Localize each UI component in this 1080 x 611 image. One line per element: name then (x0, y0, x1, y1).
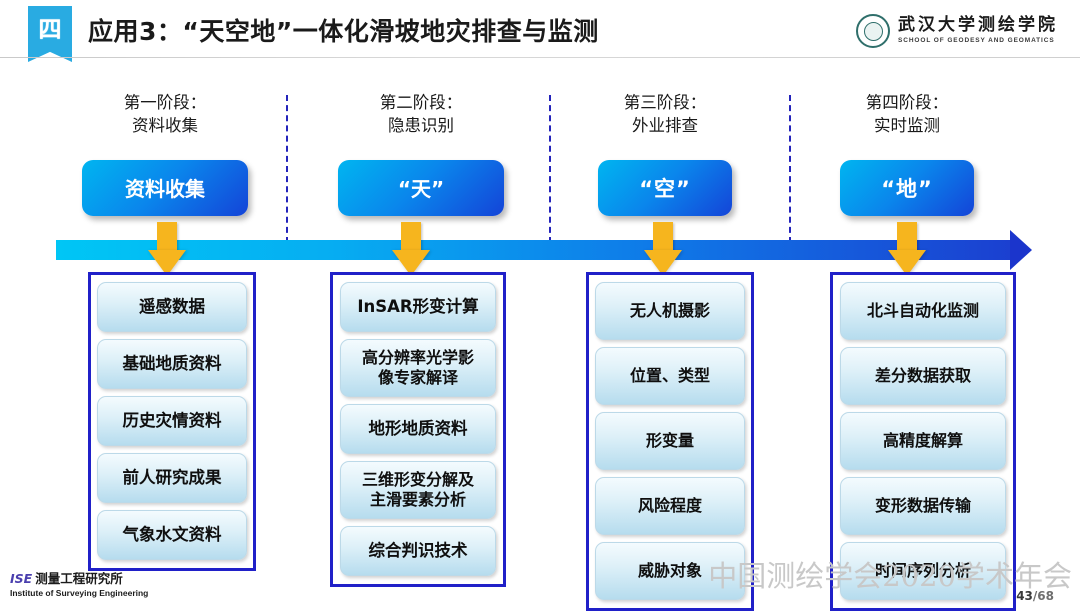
slide-header: 四 应用3：“天空地”一体化滑坡地灾排查与监测 武汉大学测绘学院 SCHOOL … (0, 0, 1080, 58)
arrow-shaft (157, 222, 177, 252)
stage-column-2: 第二阶段： 隐患识别 “天” (298, 92, 544, 216)
stage-items-frame-2: InSAR形变计算 高分辨率光学影 像专家解译 地形地质资料 三维形变分解及 主… (330, 272, 506, 587)
header-divider-rule (0, 57, 1080, 58)
down-arrow-icon-1 (148, 222, 186, 276)
list-item[interactable]: InSAR形变计算 (340, 282, 497, 332)
list-item[interactable]: 前人研究成果 (97, 453, 247, 503)
stage-divider-1 (286, 95, 288, 243)
down-arrow-icon-2 (392, 222, 430, 276)
arrow-shaft (653, 222, 673, 252)
list-item[interactable]: 三维形变分解及 主滑要素分析 (340, 461, 497, 519)
list-item[interactable]: 差分数据获取 (840, 347, 1005, 405)
university-logo-text: 武汉大学测绘学院 SCHOOL OF GEODESY AND GEOMATICS (898, 17, 1058, 45)
stage-title-3: 第三阶段： 外业排查 (542, 92, 788, 138)
timeline-arrowhead-icon (1010, 230, 1032, 270)
list-item[interactable]: 位置、类型 (595, 347, 745, 405)
stage-chip-3[interactable]: “空” (598, 160, 732, 216)
stage-chip-4[interactable]: “地” (840, 160, 974, 216)
institute-name-en: Institute of Surveying Engineering (10, 588, 148, 599)
stage-column-4: 第四阶段： 实时监测 “地” (784, 92, 1030, 216)
stage-title-4: 第四阶段： 实时监测 (784, 92, 1030, 138)
list-item[interactable]: 高分辨率光学影 像专家解译 (340, 339, 497, 397)
stage-chip-2[interactable]: “天” (338, 160, 504, 216)
ise-logo-text: ISE (10, 571, 32, 586)
list-item[interactable]: 遥感数据 (97, 282, 247, 332)
list-item[interactable]: 无人机摄影 (595, 282, 745, 340)
stage-column-1: 第一阶段： 资料收集 资料收集 (42, 92, 288, 216)
page-title: 应用3：“天空地”一体化滑坡地灾排查与监测 (88, 12, 599, 48)
page-number: 43/68 (1016, 589, 1054, 603)
down-arrow-icon-3 (644, 222, 682, 276)
list-item[interactable]: 综合判识技术 (340, 526, 497, 576)
university-logo: 武汉大学测绘学院 SCHOOL OF GEODESY AND GEOMATICS (856, 12, 1058, 50)
stage-title-1: 第一阶段： 资料收集 (42, 92, 288, 138)
list-item[interactable]: 风险程度 (595, 477, 745, 535)
stage-title-2: 第二阶段： 隐患识别 (298, 92, 544, 138)
page-number-current: 43 (1016, 589, 1033, 603)
stage-items-frame-1: 遥感数据 基础地质资料 历史灾情资料 前人研究成果 气象水文资料 (88, 272, 256, 571)
university-name-en: SCHOOL OF GEODESY AND GEOMATICS (898, 38, 1058, 45)
section-number-label: 四 (28, 10, 72, 44)
list-item[interactable]: 气象水文资料 (97, 510, 247, 560)
stage-column-3: 第三阶段： 外业排查 “空” (542, 92, 788, 216)
institute-name-cn: 测量工程研究所 (35, 571, 123, 586)
timeline-bar (56, 240, 1016, 260)
list-item[interactable]: 地形地质资料 (340, 404, 497, 454)
list-item[interactable]: 高精度解算 (840, 412, 1005, 470)
down-arrow-icon-4 (888, 222, 926, 276)
list-item[interactable]: 基础地质资料 (97, 339, 247, 389)
arrow-shaft (897, 222, 917, 252)
arrow-shaft (401, 222, 421, 252)
stage-divider-2 (549, 95, 551, 243)
stage-divider-3 (789, 95, 791, 243)
list-item[interactable]: 变形数据传输 (840, 477, 1005, 535)
page-number-total: /68 (1033, 589, 1054, 603)
seal-inner-ring (864, 22, 883, 41)
stage-chip-1[interactable]: 资料收集 (82, 160, 248, 216)
university-seal-icon (856, 14, 890, 48)
list-item[interactable]: 形变量 (595, 412, 745, 470)
institute-name-cn-line: ISE测量工程研究所 (10, 571, 148, 587)
footer-institute: ISE测量工程研究所 Institute of Surveying Engine… (10, 571, 148, 599)
list-item[interactable]: 北斗自动化监测 (840, 282, 1005, 340)
list-item[interactable]: 历史灾情资料 (97, 396, 247, 446)
section-number-badge: 四 (28, 6, 72, 62)
university-name-cn: 武汉大学测绘学院 (898, 17, 1058, 34)
